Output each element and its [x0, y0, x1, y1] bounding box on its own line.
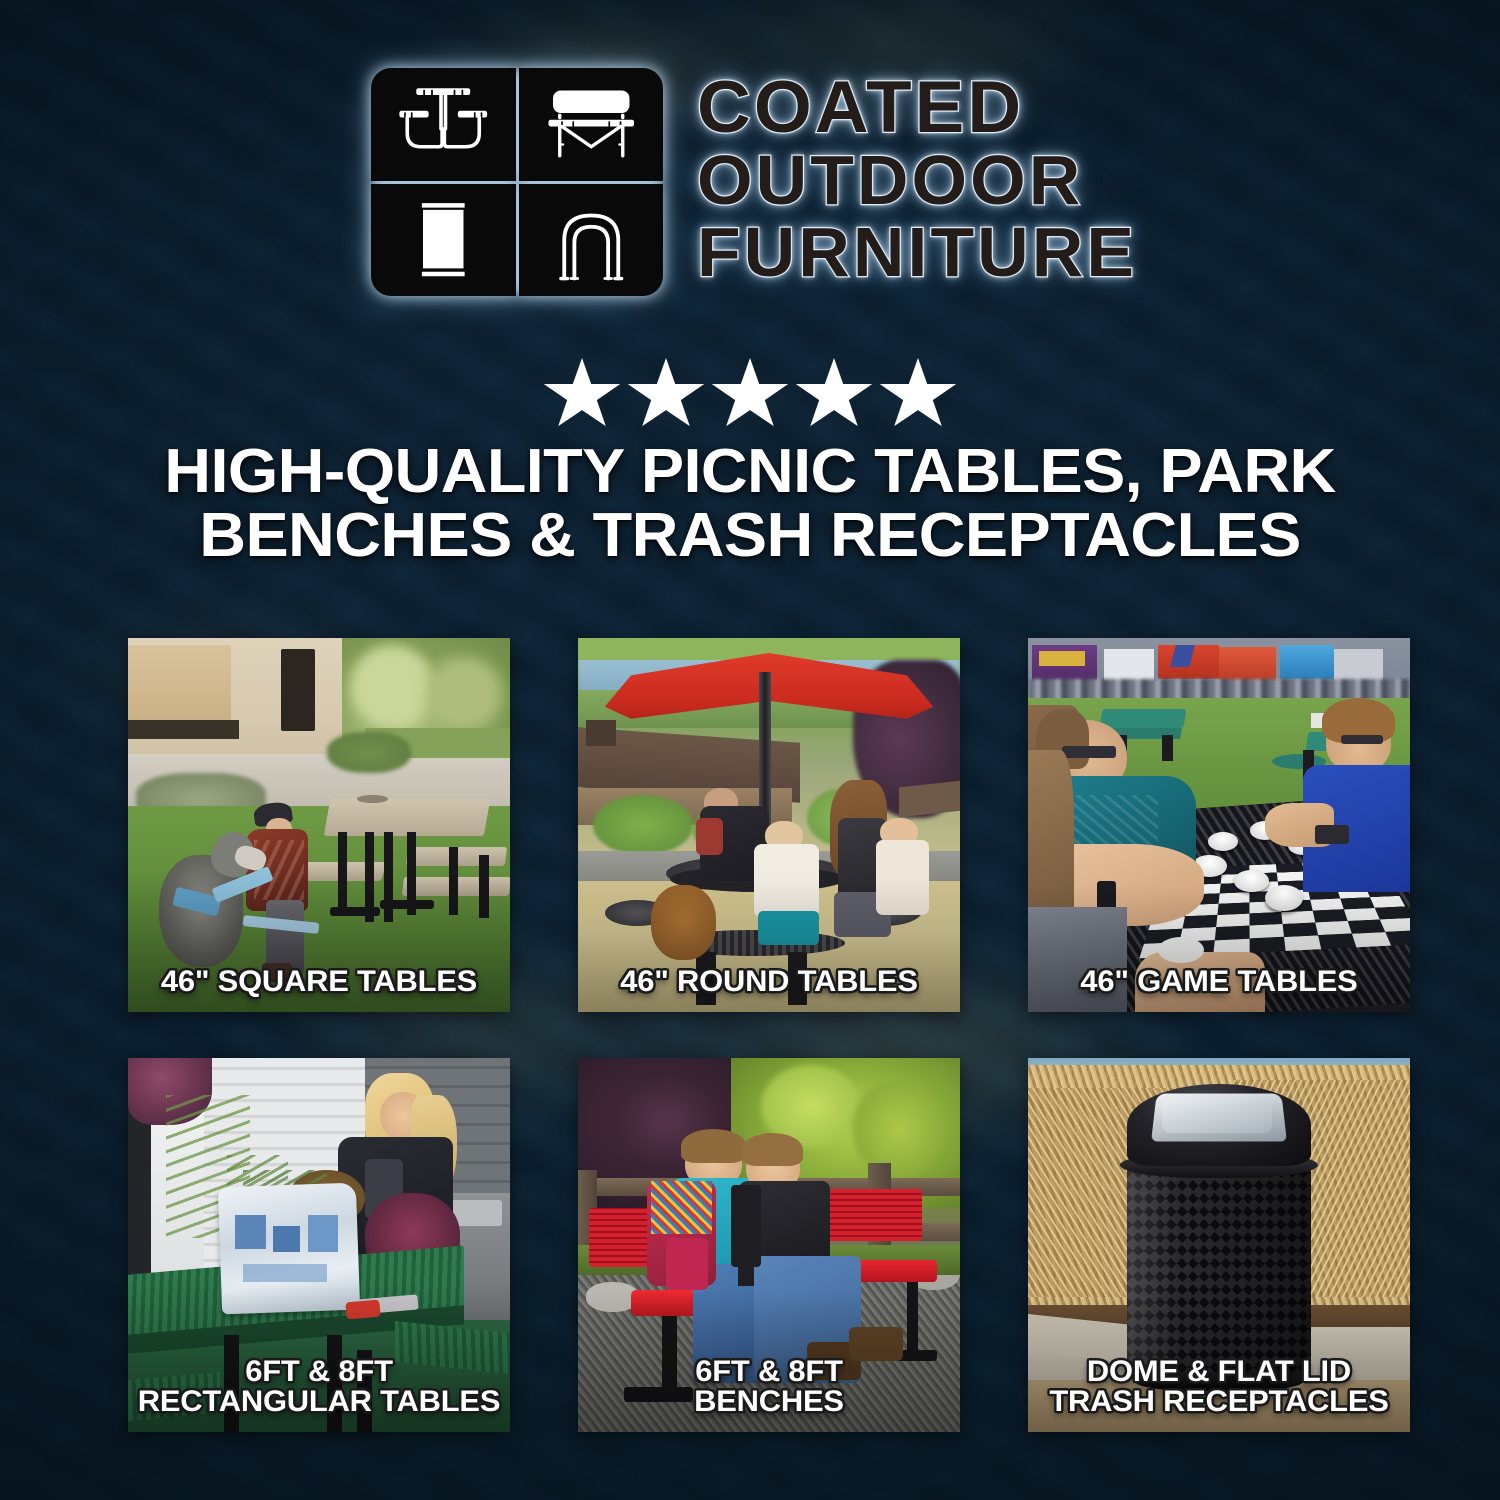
- tile-caption-line-1: 6FT & 8FT: [245, 1355, 393, 1388]
- logo-line-3: FURNITURE: [697, 218, 1137, 287]
- product-category-grid: 46" SQUARE TABLES: [128, 638, 1412, 1432]
- star-icon-5: [879, 358, 957, 432]
- arched-bench-icon: [519, 184, 664, 297]
- headline-line-1: HIGH-QUALITY PICNIC TABLES, PARK: [164, 437, 1335, 506]
- photo-square-tables: [128, 638, 510, 1012]
- tile-caption: 46" SQUARE TABLES: [128, 967, 509, 998]
- product-tile-rectangular-tables[interactable]: 6FT & 8FT RECTANGULAR TABLES: [128, 1058, 510, 1432]
- brand-logo: COATED OUTDOOR FURNITURE: [0, 68, 1500, 296]
- star-icon-3: [711, 358, 789, 432]
- picnic-table-icon: [371, 68, 516, 181]
- tile-caption-line-2: TRASH RECEPTACLES: [1028, 1387, 1409, 1418]
- tile-caption: DOME & FLAT LID TRASH RECEPTACLES: [1028, 1357, 1409, 1418]
- tile-caption-line-2: RECTANGULAR TABLES: [128, 1387, 509, 1418]
- tile-caption-line-1: 6FT & 8FT: [695, 1355, 843, 1388]
- trash-receptacle-icon: [371, 184, 516, 297]
- star-icon-1: [543, 358, 621, 432]
- tile-caption-line-1: 46" ROUND TABLES: [620, 965, 918, 998]
- tile-caption: 6FT & 8FT RECTANGULAR TABLES: [128, 1357, 509, 1418]
- page-headline: HIGH-QUALITY PICNIC TABLES, PARK BENCHES…: [29, 440, 1471, 569]
- star-icon-2: [627, 358, 705, 432]
- tile-caption-line-2: BENCHES: [578, 1387, 959, 1418]
- logo-line-1: COATED: [697, 72, 1137, 144]
- product-tile-trash-receptacles[interactable]: DOME & FLAT LID TRASH RECEPTACLES: [1028, 1058, 1410, 1432]
- tile-caption-line-1: 46" GAME TABLES: [1080, 965, 1357, 998]
- product-grid-row-2: 6FT & 8FT RECTANGULAR TABLES: [128, 1058, 1412, 1432]
- photo-round-tables: [578, 638, 960, 1012]
- page-content: COATED OUTDOOR FURNITURE HIGH-QUALITY PI…: [0, 0, 1500, 1500]
- star-icon-4: [795, 358, 873, 432]
- photo-game-tables: [1028, 638, 1410, 1012]
- product-tile-square-tables[interactable]: 46" SQUARE TABLES: [128, 638, 510, 1012]
- product-grid-row-1: 46" SQUARE TABLES: [128, 638, 1412, 1012]
- product-tile-benches[interactable]: 6FT & 8FT BENCHES: [578, 1058, 960, 1432]
- logo-line-2: OUTDOOR: [697, 146, 1137, 215]
- tile-caption-line-1: DOME & FLAT LID: [1087, 1355, 1351, 1388]
- product-tile-round-tables[interactable]: 46" ROUND TABLES: [578, 638, 960, 1012]
- star-rating: [0, 358, 1500, 432]
- logo-icon-grid: [371, 68, 663, 296]
- tile-caption-line-1: 46" SQUARE TABLES: [161, 965, 477, 998]
- product-tile-game-tables[interactable]: 46" GAME TABLES: [1028, 638, 1410, 1012]
- bench-table-icon: [519, 68, 664, 181]
- logo-wordmark: COATED OUTDOOR FURNITURE: [697, 68, 1128, 287]
- tile-caption: 46" ROUND TABLES: [578, 967, 959, 998]
- headline-line-2: BENCHES & TRASH RECEPTACLES: [29, 504, 1471, 568]
- tile-caption: 46" GAME TABLES: [1028, 967, 1409, 998]
- tile-caption: 6FT & 8FT BENCHES: [578, 1357, 959, 1418]
